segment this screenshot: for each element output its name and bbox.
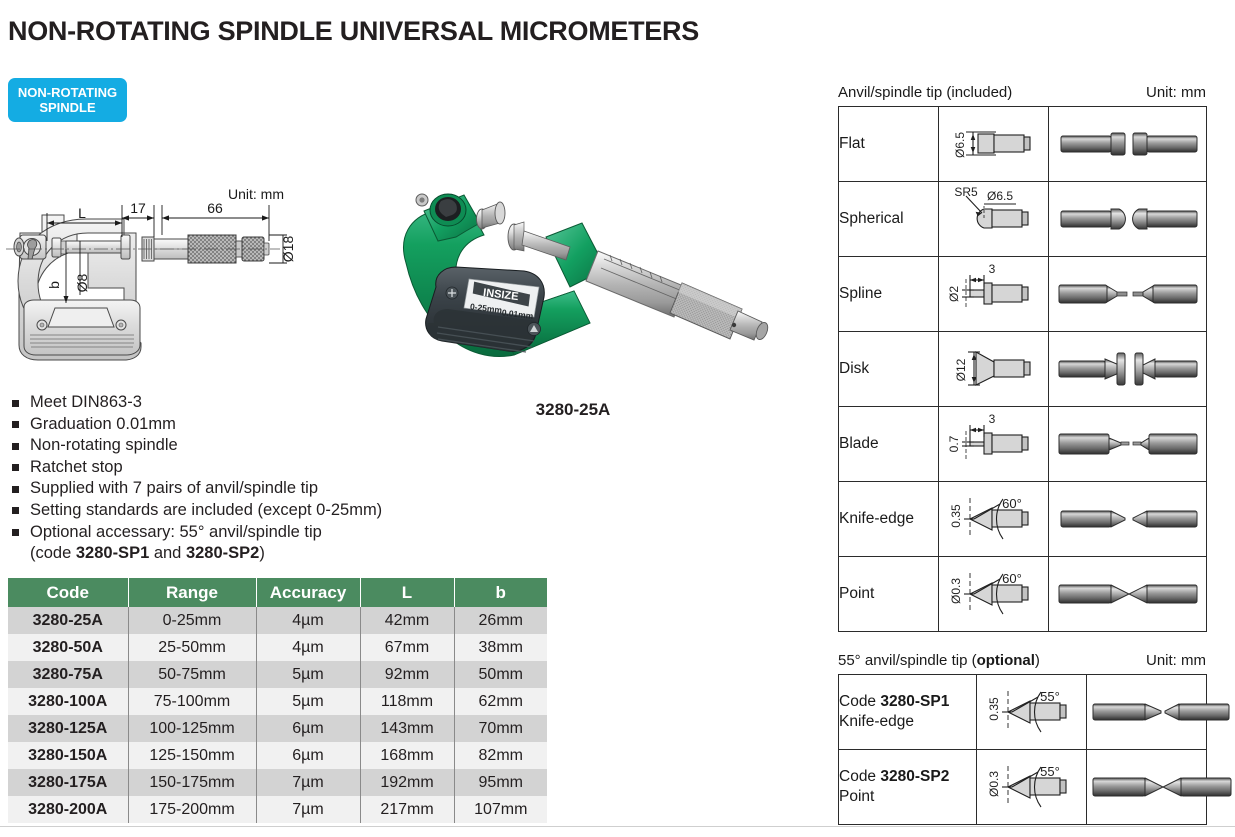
bullet-square-icon: [12, 400, 19, 407]
column-header-b: b: [454, 578, 547, 607]
tip-dimension-drawing: Ø6.5: [939, 107, 1049, 182]
cell-b: 38mm: [454, 634, 547, 661]
tip-name-cell: Blade: [839, 407, 939, 482]
tip-optional-heading-row: 55° anvil/spindle tip (optional) Unit: m…: [838, 652, 1206, 674]
tip-included-unit-label: Unit: mm: [1146, 84, 1206, 101]
cell-l: 118mm: [360, 688, 454, 715]
tip-name-cell: Code 3280-SP2Point: [839, 750, 977, 825]
bullet-square-icon: [12, 529, 19, 536]
feature-item: Non-rotating spindle: [10, 435, 382, 457]
badge-line-1: NON-ROTATING: [18, 85, 117, 100]
feature-item: Ratchet stop: [10, 457, 382, 479]
tip-product-photo: [1049, 557, 1207, 632]
svg-text:0.7: 0.7: [947, 435, 961, 452]
tip-table-row: Spherical SR5 Ø6.5: [839, 182, 1207, 257]
tip-dimension-drawing: 3 Ø2: [939, 257, 1049, 332]
tip-dimension-drawing: 3 0.7: [939, 407, 1049, 482]
cell-range: 25-50mm: [128, 634, 256, 661]
tip-table-row: Point Ø0.3 60°: [839, 557, 1207, 632]
anvil-tip-included-section: Anvil/spindle tip (included) Unit: mm Fl…: [838, 84, 1207, 632]
non-rotating-spindle-badge: NON-ROTATING SPINDLE: [8, 78, 127, 122]
tip-included-heading: Anvil/spindle tip (included): [838, 84, 1012, 101]
tip-product-photo: [1049, 257, 1207, 332]
feature-item: Optional accessary: 55° anvil/spindle ti…: [10, 522, 382, 544]
tip-name-cell: Point: [839, 557, 939, 632]
tip-table-row: Code 3280-SP2Point Ø0.3 55°: [839, 750, 1207, 825]
tip-table-row: Blade 3 0.7: [839, 407, 1207, 482]
tip-name-cell: Spherical: [839, 182, 939, 257]
tip-dimension-drawing: Ø0.3 55°: [977, 750, 1087, 825]
tip-product-photo: [1049, 407, 1207, 482]
tip-name-cell: Spline: [839, 257, 939, 332]
feature-cont-pre: (code: [30, 544, 76, 562]
tip-dimension-drawing: Ø12: [939, 332, 1049, 407]
dim-L-text: L: [78, 205, 86, 221]
svg-text:60°: 60°: [1002, 496, 1022, 511]
svg-text:Ø0.3: Ø0.3: [987, 771, 1001, 797]
feature-cont-code-2: 3280-SP2: [186, 544, 259, 562]
dim-66-text: 66: [207, 200, 223, 216]
page-bottom-rule: [0, 826, 1235, 827]
tip-table-row: Code 3280-SP1Knife-edge 0.35 55°: [839, 675, 1207, 750]
table-row: 3280-125A100-125mm6µm143mm70mm: [8, 715, 547, 742]
cell-l: 192mm: [360, 769, 454, 796]
feature-cont-post: ): [259, 544, 265, 562]
table-row: 3280-200A175-200mm7µm217mm107mm: [8, 796, 547, 823]
feature-item: Graduation 0.01mm: [10, 414, 382, 436]
tip-product-photo: [1049, 482, 1207, 557]
svg-text:Ø0.3: Ø0.3: [949, 578, 963, 604]
feature-item: Setting standards are included (except 0…: [10, 500, 382, 522]
svg-text:SR5: SR5: [954, 185, 978, 199]
micrometer-technical-drawing: L 17 66 Ø18 Ø8 b: [2, 185, 312, 370]
svg-text:60°: 60°: [1002, 571, 1022, 586]
cell-l: 217mm: [360, 796, 454, 823]
tip-dimension-drawing: SR5 Ø6.5: [939, 182, 1049, 257]
feature-text: Supplied with 7 pairs of anvil/spindle t…: [30, 479, 318, 497]
cell-b: 82mm: [454, 742, 547, 769]
specification-table: Code Range Accuracy L b 3280-25A0-25mm4µ…: [8, 578, 547, 823]
feature-text: Non-rotating spindle: [30, 436, 178, 454]
tip-product-photo: [1087, 750, 1207, 825]
dim-d8-text: Ø8: [74, 273, 90, 292]
bullet-square-icon: [12, 421, 19, 428]
svg-text:3: 3: [988, 412, 995, 426]
page-title: NON-ROTATING SPINDLE UNIVERSAL MICROMETE…: [8, 16, 699, 47]
cell-l: 67mm: [360, 634, 454, 661]
cell-accuracy: 7µm: [256, 796, 360, 823]
svg-text:Ø12: Ø12: [954, 358, 968, 381]
svg-text:55°: 55°: [1040, 689, 1060, 704]
tip-name-cell: Disk: [839, 332, 939, 407]
tip-product-photo: [1087, 675, 1207, 750]
tip-table-row: Knife-edge 0.35 60°: [839, 482, 1207, 557]
tip-product-photo: [1049, 182, 1207, 257]
svg-text:0.35: 0.35: [949, 504, 963, 528]
cell-b: 62mm: [454, 688, 547, 715]
cell-accuracy: 5µm: [256, 661, 360, 688]
cell-code: 3280-50A: [8, 634, 128, 661]
tip-optional-unit-label: Unit: mm: [1146, 652, 1206, 669]
table-row: 3280-100A75-100mm5µm118mm62mm: [8, 688, 547, 715]
cell-code: 3280-100A: [8, 688, 128, 715]
svg-text:3: 3: [988, 262, 995, 276]
column-header-range: Range: [128, 578, 256, 607]
tip-product-photo: [1049, 107, 1207, 182]
feature-text: Meet DIN863-3: [30, 393, 142, 411]
tip-table-row: Spline 3 Ø2: [839, 257, 1207, 332]
tip-table-row: Flat Ø6.5: [839, 107, 1207, 182]
cell-code: 3280-125A: [8, 715, 128, 742]
cell-range: 125-150mm: [128, 742, 256, 769]
tip-code-prefix: Code: [839, 693, 880, 710]
cell-b: 26mm: [454, 607, 547, 634]
tip-dimension-drawing: 0.35 55°: [977, 675, 1087, 750]
cell-accuracy: 6µm: [256, 742, 360, 769]
tip-dimension-drawing: Ø0.3 60°: [939, 557, 1049, 632]
bullet-square-icon: [12, 507, 19, 514]
cell-l: 42mm: [360, 607, 454, 634]
product-photo: INSIZE 0-25mm 0.01mm: [338, 165, 808, 400]
cell-l: 168mm: [360, 742, 454, 769]
feature-cont-code-1: 3280-SP1: [76, 544, 149, 562]
tip-included-heading-row: Anvil/spindle tip (included) Unit: mm: [838, 84, 1206, 106]
bullet-square-icon: [12, 486, 19, 493]
cell-range: 150-175mm: [128, 769, 256, 796]
table-row: 3280-75A50-75mm5µm92mm50mm: [8, 661, 547, 688]
cell-range: 75-100mm: [128, 688, 256, 715]
tip-name-cell: Knife-edge: [839, 482, 939, 557]
feature-continuation: (code 3280-SP1 and 3280-SP2): [10, 543, 382, 565]
feature-text: Setting standards are included (except 0…: [30, 501, 382, 519]
cell-code: 3280-25A: [8, 607, 128, 634]
cell-range: 50-75mm: [128, 661, 256, 688]
cell-range: 175-200mm: [128, 796, 256, 823]
dim-17-text: 17: [130, 200, 146, 216]
cell-range: 0-25mm: [128, 607, 256, 634]
anvil-tip-optional-table: Code 3280-SP1Knife-edge 0.35 55° Code 32…: [838, 674, 1207, 825]
svg-text:55°: 55°: [1040, 764, 1060, 779]
feature-item: Meet DIN863-3: [10, 392, 382, 414]
svg-text:Ø2: Ø2: [947, 286, 961, 302]
cell-accuracy: 4µm: [256, 634, 360, 661]
tip-optional-heading-post: ): [1035, 652, 1040, 669]
table-row: 3280-50A25-50mm4µm67mm38mm: [8, 634, 547, 661]
tip-code-prefix: Code: [839, 768, 880, 785]
catalog-page: NON-ROTATING SPINDLE UNIVERSAL MICROMETE…: [0, 0, 1235, 837]
cell-accuracy: 4µm: [256, 607, 360, 634]
tip-name: Point: [839, 787, 976, 807]
column-header-l: L: [360, 578, 454, 607]
cell-l: 143mm: [360, 715, 454, 742]
bullet-square-icon: [12, 464, 19, 471]
cell-accuracy: 7µm: [256, 769, 360, 796]
svg-text:Ø6.5: Ø6.5: [953, 132, 967, 158]
table-row: 3280-150A125-150mm6µm168mm82mm: [8, 742, 547, 769]
product-code-caption: 3280-25A: [338, 400, 808, 420]
feature-cont-mid: and: [149, 544, 186, 562]
feature-text: Graduation 0.01mm: [30, 415, 176, 433]
tip-product-photo: [1049, 332, 1207, 407]
cell-range: 100-125mm: [128, 715, 256, 742]
tip-name-cell: Flat: [839, 107, 939, 182]
cell-accuracy: 6µm: [256, 715, 360, 742]
tip-optional-heading: 55° anvil/spindle tip (optional): [838, 652, 1040, 669]
column-header-code: Code: [8, 578, 128, 607]
tip-code: 3280-SP2: [880, 768, 949, 785]
cell-code: 3280-150A: [8, 742, 128, 769]
feature-item: Supplied with 7 pairs of anvil/spindle t…: [10, 478, 382, 500]
tip-name-cell: Code 3280-SP1Knife-edge: [839, 675, 977, 750]
anvil-tip-optional-section: 55° anvil/spindle tip (optional) Unit: m…: [838, 652, 1207, 825]
anvil-tip-included-table: Flat Ø6.5 Spherical SR5: [838, 106, 1207, 632]
badge-line-2: SPINDLE: [39, 100, 95, 115]
tip-code: 3280-SP1: [880, 693, 949, 710]
tip-optional-heading-bold: optional: [977, 652, 1035, 669]
table-row: 3280-175A150-175mm7µm192mm95mm: [8, 769, 547, 796]
svg-text:0.35: 0.35: [987, 697, 1001, 721]
cell-b: 70mm: [454, 715, 547, 742]
cell-l: 92mm: [360, 661, 454, 688]
table-row: 3280-25A0-25mm4µm42mm26mm: [8, 607, 547, 634]
tip-name: Knife-edge: [839, 712, 976, 732]
cell-b: 107mm: [454, 796, 547, 823]
cell-code: 3280-200A: [8, 796, 128, 823]
cell-b: 50mm: [454, 661, 547, 688]
dim-d18-text: Ø18: [280, 236, 296, 263]
cell-accuracy: 5µm: [256, 688, 360, 715]
tip-optional-heading-pre: 55° anvil/spindle tip (: [838, 652, 977, 669]
tip-table-row: Disk Ø12: [839, 332, 1207, 407]
cell-code: 3280-75A: [8, 661, 128, 688]
cell-b: 95mm: [454, 769, 547, 796]
table-header-row: Code Range Accuracy L b: [8, 578, 547, 607]
features-list: Meet DIN863-3 Graduation 0.01mm Non-rota…: [10, 392, 382, 565]
cell-code: 3280-175A: [8, 769, 128, 796]
feature-text: Ratchet stop: [30, 458, 123, 476]
column-header-accuracy: Accuracy: [256, 578, 360, 607]
svg-text:Ø6.5: Ø6.5: [986, 189, 1012, 203]
feature-text: Optional accessary: 55° anvil/spindle ti…: [30, 523, 322, 541]
bullet-square-icon: [12, 443, 19, 450]
tip-dimension-drawing: 0.35 60°: [939, 482, 1049, 557]
dim-b-text: b: [46, 281, 62, 289]
